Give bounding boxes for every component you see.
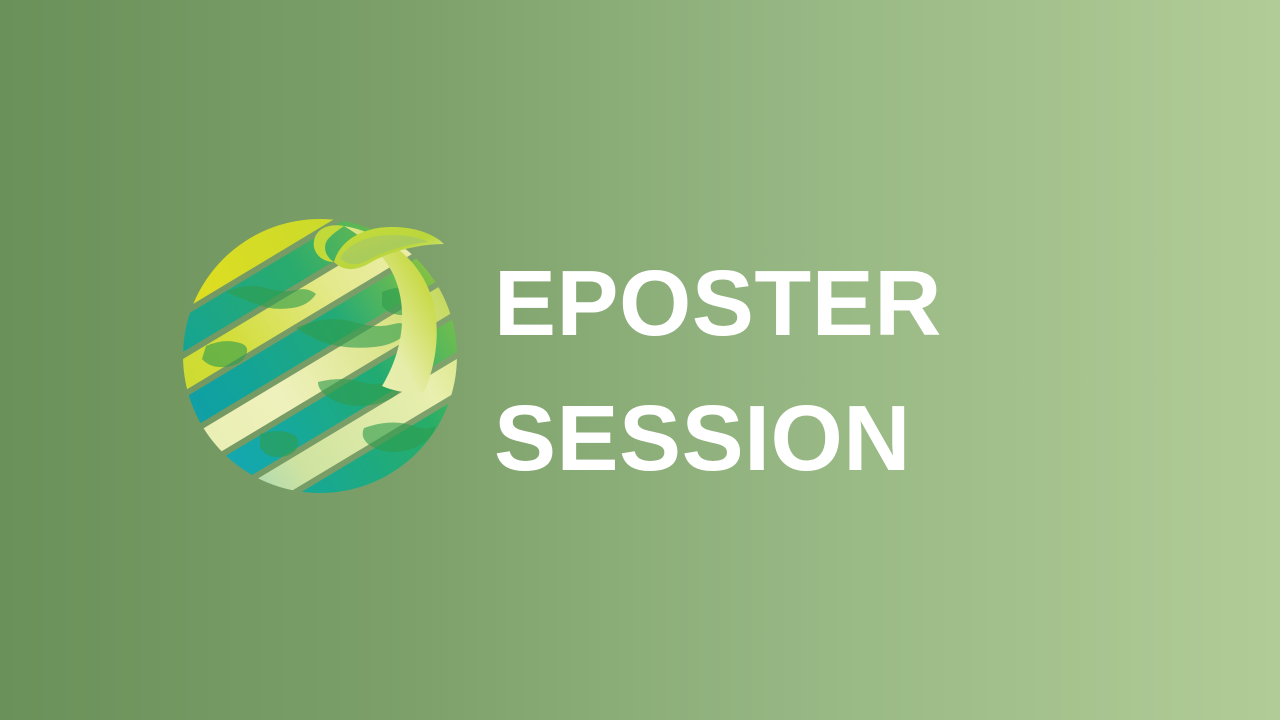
slide-canvas: EPOSTER SESSION (0, 0, 1280, 720)
wordmark: EPOSTER SESSION (494, 236, 1134, 506)
wordmark-line-2: SESSION (494, 371, 1134, 506)
wordmark-line-1: EPOSTER (494, 236, 1134, 371)
globe-leaf-logo (168, 196, 468, 516)
